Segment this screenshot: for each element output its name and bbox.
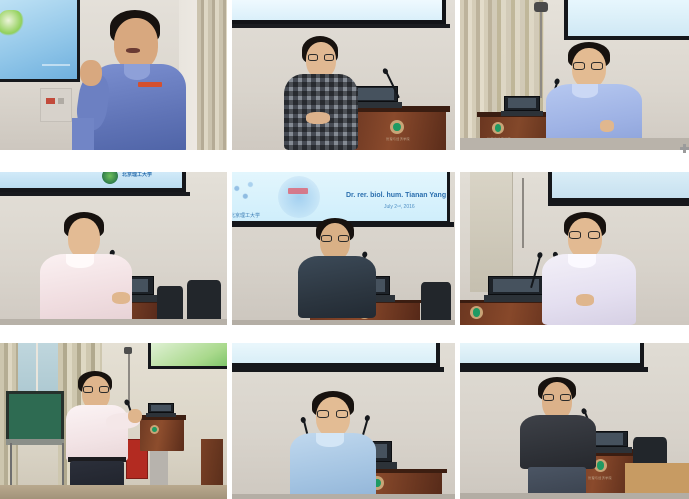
projector-screen — [460, 343, 644, 367]
chalkboard — [6, 391, 64, 443]
wall-panel — [40, 88, 72, 122]
photo-cell-1[interactable] — [0, 0, 227, 150]
cable — [522, 178, 524, 248]
glasses — [573, 62, 603, 70]
camera — [124, 347, 132, 354]
glasses — [308, 54, 334, 61]
collar — [124, 64, 150, 80]
cable — [540, 12, 542, 98]
camera — [534, 2, 548, 12]
slide-speaker-name: Dr. rer. biol. hum. Tianan Yang — [346, 192, 446, 199]
laptop — [488, 276, 544, 302]
podium — [140, 415, 184, 451]
person — [544, 42, 650, 150]
hand — [128, 409, 142, 423]
hand — [600, 120, 614, 132]
collar — [316, 433, 344, 447]
floor — [460, 138, 689, 150]
podium-emblem — [390, 120, 404, 134]
person — [34, 212, 144, 325]
chair — [421, 282, 451, 322]
photo-cell-3[interactable]: 管理与经济学院 — [460, 0, 689, 150]
projector-screen — [232, 0, 446, 24]
slide-wordcloud-circle — [278, 176, 320, 218]
podium-pedestal — [150, 451, 168, 489]
floor — [232, 320, 455, 325]
windows-logo — [0, 10, 24, 36]
resize-handle-icon[interactable] — [680, 144, 689, 153]
chalk-tray — [6, 439, 64, 445]
glasses — [321, 235, 349, 242]
glasses — [317, 410, 348, 418]
projector-screen — [0, 0, 80, 82]
photo-cell-9[interactable]: 管理与经济学院 — [460, 343, 689, 499]
collar — [572, 84, 598, 98]
hand — [112, 292, 130, 304]
podium-emblem — [150, 425, 159, 434]
floor — [0, 319, 227, 325]
projector-screen — [232, 343, 440, 367]
photo-cell-7[interactable] — [0, 343, 227, 499]
projector-screen — [148, 343, 227, 369]
floor — [0, 485, 227, 499]
podium-sign-text: 管理与经济学院 — [378, 137, 418, 141]
projector-screen — [564, 0, 689, 40]
projector-screen: Dr. rer. biol. hum. Tianan Yang July 2ⁿᵈ… — [232, 172, 450, 224]
person — [542, 212, 646, 325]
photo-cell-4[interactable]: 北京理工大学 — [0, 172, 227, 325]
laptop — [504, 96, 540, 116]
slide-date: July 2ⁿᵈ, 2016 — [384, 204, 415, 210]
photo-cell-2[interactable]: 管理与经济学院 — [232, 0, 455, 150]
hand — [576, 294, 594, 306]
laptop — [148, 403, 174, 417]
podium: 管理与经济学院 — [348, 106, 446, 150]
photo-cell-6[interactable] — [460, 172, 689, 325]
person — [62, 371, 140, 499]
slide-university-mark: 北京理工大学 — [232, 212, 260, 219]
podium-emblem — [470, 306, 483, 319]
mouth — [126, 48, 140, 53]
hands — [306, 112, 330, 124]
photo-cell-5[interactable]: Dr. rer. biol. hum. Tianan Yang July 2ⁿᵈ… — [232, 172, 455, 325]
photo-grid: 管理与经济学院 — [0, 0, 689, 499]
floor — [460, 493, 689, 499]
collar — [66, 254, 94, 268]
polo-shirt — [520, 415, 596, 469]
podium-emblem — [492, 122, 504, 134]
glasses — [569, 231, 600, 239]
floor — [232, 494, 455, 499]
chest-logo — [138, 82, 162, 87]
hand — [80, 60, 102, 86]
glasses — [83, 386, 109, 393]
projector-screen: 北京理工大学 — [0, 172, 186, 192]
chair — [187, 280, 221, 322]
slide-university-mark: 北京理工大学 — [122, 172, 152, 178]
projector-screen — [548, 172, 689, 202]
column — [470, 172, 513, 292]
glasses — [543, 394, 571, 401]
shirt — [298, 256, 376, 318]
person — [298, 218, 382, 318]
collar — [568, 254, 596, 268]
side-podium — [201, 439, 223, 485]
chair — [157, 286, 183, 322]
slide-highlight — [288, 188, 308, 194]
slide-wordcloud-left — [232, 178, 264, 204]
person — [72, 8, 202, 150]
person — [518, 377, 604, 499]
person — [282, 36, 362, 150]
person — [290, 391, 380, 499]
wall-socket — [46, 98, 55, 104]
photo-cell-8[interactable] — [232, 343, 455, 499]
